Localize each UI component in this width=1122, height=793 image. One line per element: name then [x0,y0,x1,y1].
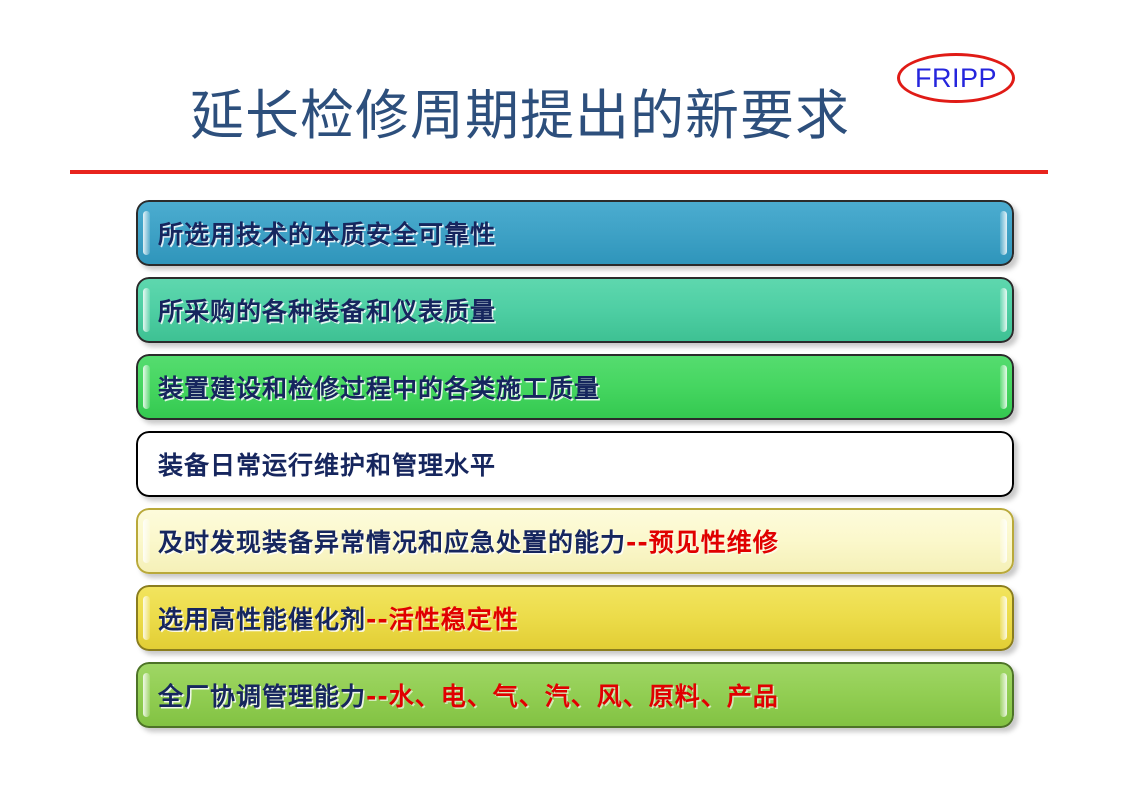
requirement-label: 装置建设和检修过程中的各类施工质量 [138,369,600,405]
requirement-label: 及时发现装备异常情况和应急处置的能力--预见性维修 [138,523,779,559]
requirement-text: 所选用技术的本质安全可靠性 [158,220,496,249]
requirement-row-body: 装置建设和检修过程中的各类施工质量 [136,354,1014,420]
requirement-text: 全厂协调管理能力 [158,682,366,711]
row-highlight-right [1000,211,1007,255]
row-highlight-right [1000,288,1007,332]
requirement-row-body: 选用高性能催化剂--活性稳定性 [136,585,1014,651]
requirement-text: 选用高性能催化剂 [158,605,366,634]
requirement-list: 所选用技术的本质安全可靠性所采购的各种装备和仪表质量装置建设和检修过程中的各类施… [136,200,1014,739]
requirement-row[interactable]: 装置建设和检修过程中的各类施工质量 [136,354,1014,420]
requirement-row-body: 全厂协调管理能力--水、电、气、汽、风、原料、产品 [136,662,1014,728]
requirement-text: 装置建设和检修过程中的各类施工质量 [158,374,600,403]
row-highlight-right [1000,673,1007,717]
requirement-row-body: 及时发现装备异常情况和应急处置的能力--预见性维修 [136,508,1014,574]
row-highlight-right [1000,519,1007,563]
requirement-row[interactable]: 选用高性能催化剂--活性稳定性 [136,585,1014,651]
requirement-row-body: 所选用技术的本质安全可靠性 [136,200,1014,266]
page-title: 延长检修周期提出的新要求 [70,86,970,145]
requirement-text: 及时发现装备异常情况和应急处置的能力 [158,528,626,557]
requirement-label: 所采购的各种装备和仪表质量 [138,292,496,328]
requirement-row[interactable]: 所选用技术的本质安全可靠性 [136,200,1014,266]
requirement-text: 装备日常运行维护和管理水平 [158,451,496,480]
requirement-accent-text: --水、电、气、汽、风、原料、产品 [366,682,779,711]
requirement-text: 所采购的各种装备和仪表质量 [158,297,496,326]
row-highlight-right [1000,365,1007,409]
requirement-row[interactable]: 所采购的各种装备和仪表质量 [136,277,1014,343]
requirement-label: 选用高性能催化剂--活性稳定性 [138,600,519,636]
requirement-row[interactable]: 全厂协调管理能力--水、电、气、汽、风、原料、产品 [136,662,1014,728]
requirement-row-body: 装备日常运行维护和管理水平 [136,431,1014,497]
requirement-row[interactable]: 装备日常运行维护和管理水平 [136,431,1014,497]
title-divider [70,170,1048,174]
requirement-label: 所选用技术的本质安全可靠性 [138,215,496,251]
requirement-label: 全厂协调管理能力--水、电、气、汽、风、原料、产品 [138,677,779,713]
slide-canvas: FRIPP 延长检修周期提出的新要求 所选用技术的本质安全可靠性所采购的各种装备… [0,0,1122,793]
requirement-row-body: 所采购的各种装备和仪表质量 [136,277,1014,343]
requirement-row[interactable]: 及时发现装备异常情况和应急处置的能力--预见性维修 [136,508,1014,574]
requirement-accent-text: --预见性维修 [626,528,779,557]
row-highlight-right [1000,596,1007,640]
requirement-accent-text: --活性稳定性 [366,605,519,634]
requirement-label: 装备日常运行维护和管理水平 [138,446,496,482]
